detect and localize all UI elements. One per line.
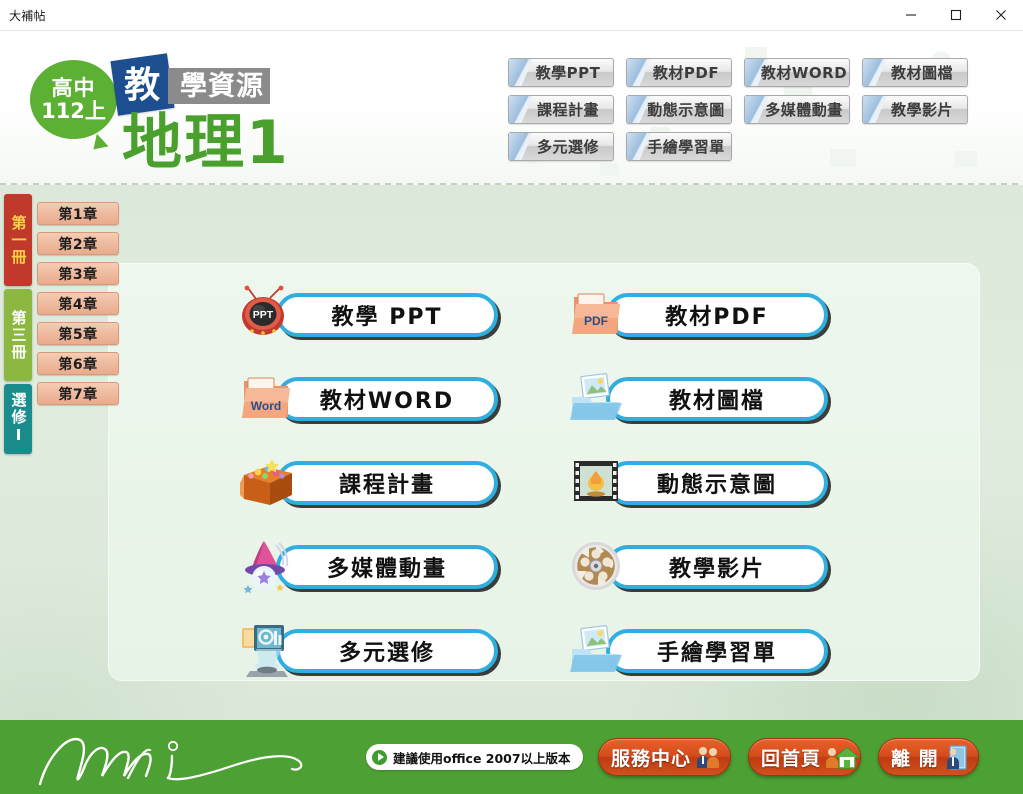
resource-button-pill: 教材圖檔 [606,377,828,421]
header-nav-cell: 手繪學習單 [626,132,744,161]
service-center-button[interactable]: 服務中心 [598,738,731,776]
header-nav-cell: 教學影片 [862,95,980,124]
resource-button-label: 課程計畫 [339,467,435,499]
page-title: 地理1 [122,113,290,173]
resource-button-label: 教材PDF [665,299,768,331]
chapter-button-4[interactable]: 第4章 [37,292,119,315]
nani-logo [22,726,322,788]
resource-band-label: 學資源 [180,73,264,100]
close-button[interactable] [978,0,1023,31]
header-nav-4[interactable]: 教材圖檔 [862,58,968,87]
resource-button-pill: 手繪學習單 [606,629,828,673]
resource-button-label: 教學 PPT [332,299,443,331]
header-nav-label: 手繪學習單 [633,136,725,157]
resource-button-filmstrip[interactable]: 動態示意圖 [568,461,828,505]
exit-label: 離 開 [891,744,939,771]
header-nav-cell: 教材PDF [626,58,744,87]
window-controls [888,0,1023,31]
tv-ppt-icon: PPT [238,285,298,343]
header-nav-3[interactable]: 教材WORD [744,58,850,87]
header-nav-cell: 教學PPT [508,58,626,87]
svg-text:PPT: PPT [253,309,274,321]
header-nav-label: 多媒體動畫 [751,99,843,120]
grade-badge-line1: 高中 [52,77,96,99]
office-version-note-label: 建議使用office 2007以上版本 [393,748,571,767]
resource-button-photo-tray[interactable]: 教材圖檔 [568,377,828,421]
header-texture-square [600,163,618,176]
teaching-kanji-char: 教 [124,67,160,103]
chapter-button-6[interactable]: 第6章 [37,352,119,375]
chapter-button-2[interactable]: 第2章 [37,232,119,255]
volume-tab-label: 第一冊 [11,215,26,266]
resource-button-grid: PPT 教學 PPT PDF教材PDF Word教材WORD 教材圖檔 [108,263,980,681]
header-nav-5[interactable]: 課程計畫 [508,95,614,124]
resource-button-label: 教材WORD [320,383,454,415]
service-center-label: 服務中心 [611,744,691,771]
resource-button-photo-tray[interactable]: 手繪學習單 [568,629,828,673]
home-button[interactable]: 回首頁 [748,738,861,776]
volume-tab-2[interactable]: 第三冊 [4,289,32,381]
header-nav-cell: 教材WORD [744,58,862,87]
header-nav-label: 動態示意圖 [633,99,725,120]
filmstrip-icon [568,453,628,511]
projector-icon [238,621,298,679]
header-nav-9[interactable]: 多元選修 [508,132,614,161]
resource-button-folder-pdf[interactable]: PDF教材PDF [568,293,828,337]
header-nav-grid: 教學PPT教材PDF教材WORD教材圖檔課程計畫動態示意圖多媒體動畫教學影片多元… [508,58,980,161]
office-version-note: 建議使用office 2007以上版本 [366,744,583,770]
page-header: 高中 112上 教 學資源 地理1 教學PPT教材PDF教材WORD教材圖檔課程… [0,31,1023,185]
content-stage: PPT 教學 PPT PDF教材PDF Word教材WORD 教材圖檔 [0,185,1023,720]
resource-button-treasure-box[interactable]: 課程計畫 [238,461,498,505]
header-nav-cell: 多元選修 [508,132,626,161]
resource-button-pill: 課程計畫 [276,461,498,505]
header-nav-10[interactable]: 手繪學習單 [626,132,732,161]
page-footer: 建議使用office 2007以上版本 服務中心 回首頁 [0,720,1023,794]
chapter-rail: 第一冊第三冊選修I第1章第2章第3章第4章第5章第6章第7章 [4,194,122,454]
title-bar: 大補帖 [0,0,1023,31]
exit-door-icon [943,744,969,770]
resource-band: 學資源 [168,68,270,104]
resource-button-projector[interactable]: 多元選修 [238,629,498,673]
folder-word-icon: Word [238,369,298,427]
home-label: 回首頁 [761,744,821,771]
resource-button-pill: 教學影片 [606,545,828,589]
volume-tab-1[interactable]: 第一冊 [4,194,32,286]
resource-button-folder-word[interactable]: Word教材WORD [238,377,498,421]
resource-button-pill: 多元選修 [276,629,498,673]
header-nav-cell: 多媒體動畫 [744,95,862,124]
resource-button-pill: 教材PDF [606,293,828,337]
exit-button[interactable]: 離 開 [878,738,979,776]
resource-button-label: 教學影片 [669,551,765,583]
chapter-button-label: 第5章 [58,324,97,344]
photo-tray-icon [568,369,628,427]
header-nav-2[interactable]: 教材PDF [626,58,732,87]
resource-button-pill: 動態示意圖 [606,461,828,505]
folder-pdf-icon: PDF [568,285,628,343]
svg-text:PDF: PDF [584,314,608,328]
svg-text:Word: Word [251,399,281,413]
application-window: 大補帖 高中 112上 教 [0,0,1023,794]
play-icon [372,750,387,765]
chapter-button-label: 第4章 [58,294,97,314]
resource-button-label: 教材圖檔 [669,383,765,415]
header-nav-1[interactable]: 教學PPT [508,58,614,87]
chapter-button-7[interactable]: 第7章 [37,382,119,405]
chapter-button-label: 第7章 [58,384,97,404]
header-nav-cell: 教材圖檔 [862,58,980,87]
film-reel-icon [568,537,628,595]
volume-tab-label: 選修I [11,392,26,446]
header-nav-label: 教學PPT [522,62,601,83]
resource-button-tv-ppt[interactable]: PPT 教學 PPT [238,293,498,337]
photo-tray-icon [568,621,628,679]
people-icon [695,744,721,770]
header-nav-label: 課程計畫 [523,99,599,120]
volume-tab-3[interactable]: 選修I [4,384,32,454]
teaching-kanji-tile: 教 [110,53,174,115]
chapter-button-label: 第1章 [58,204,97,224]
brand-block: 高中 112上 教 學資源 地理1 [18,43,318,183]
header-nav-label: 教材圖檔 [877,62,953,83]
treasure-box-icon [238,453,298,511]
volume-tab-label: 第三冊 [11,310,26,361]
window-title: 大補帖 [0,7,46,24]
chapter-button-label: 第2章 [58,234,97,254]
grade-badge-line2: 112上 [41,100,106,122]
header-nav-label: 教材WORD [747,62,847,83]
resource-button-label: 多媒體動畫 [327,551,447,583]
content-panel: PPT 教學 PPT PDF教材PDF Word教材WORD 教材圖檔 [108,263,980,681]
chapter-button-label: 第3章 [58,264,97,284]
chapter-button-label: 第6章 [58,354,97,374]
resource-button-magic-hat[interactable]: 多媒體動畫 [238,545,498,589]
chapter-button-5[interactable]: 第5章 [37,322,119,345]
resource-button-label: 多元選修 [339,635,435,667]
resource-button-pill: 多媒體動畫 [276,545,498,589]
chapter-button-1[interactable]: 第1章 [37,202,119,225]
header-nav-label: 教材PDF [639,62,719,83]
home-icon [825,744,851,770]
header-nav-label: 多元選修 [523,136,599,157]
resource-button-pill: 教學 PPT [276,293,498,337]
chapter-button-3[interactable]: 第3章 [37,262,119,285]
maximize-button[interactable] [933,0,978,31]
resource-button-pill: 教材WORD [276,377,498,421]
header-nav-8[interactable]: 教學影片 [862,95,968,124]
header-nav-6[interactable]: 動態示意圖 [626,95,732,124]
header-nav-cell: 課程計畫 [508,95,626,124]
resource-button-label: 手繪學習單 [657,635,777,667]
grade-badge: 高中 112上 [30,60,117,139]
magic-hat-icon [238,537,298,595]
header-nav-7[interactable]: 多媒體動畫 [744,95,850,124]
resource-button-label: 動態示意圖 [657,467,777,499]
resource-button-film-reel[interactable]: 教學影片 [568,545,828,589]
minimize-button[interactable] [888,0,933,31]
header-nav-cell: 動態示意圖 [626,95,744,124]
header-nav-label: 教學影片 [877,99,953,120]
